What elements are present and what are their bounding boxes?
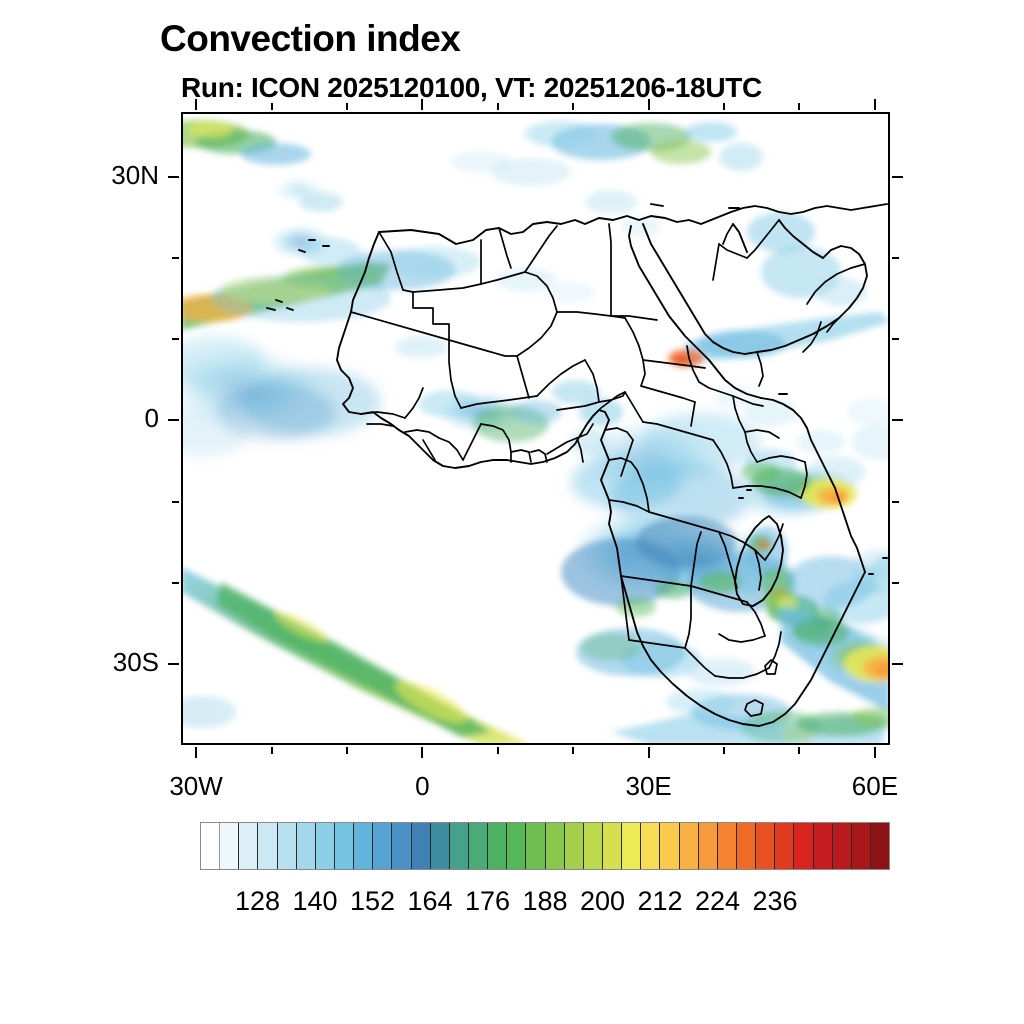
colorbar-segment[interactable] <box>220 823 239 869</box>
colorbar-segment[interactable] <box>718 823 737 869</box>
colorbar-tick-label-176: 176 <box>465 886 510 917</box>
y-major-tick <box>168 419 179 421</box>
colorbar-segment[interactable] <box>239 823 258 869</box>
colorbar-segment[interactable] <box>507 823 526 869</box>
x-minor-tick-top <box>798 103 800 110</box>
run-valid-time-subtitle: Run: ICON 2025120100, VT: 20251206-18UTC <box>181 72 762 104</box>
colorbar-segment[interactable] <box>392 823 411 869</box>
colorbar-segment[interactable] <box>699 823 718 869</box>
colorbar-segment[interactable] <box>660 823 679 869</box>
x-minor-tick-top <box>497 103 499 110</box>
x-major-tick <box>421 747 423 758</box>
colorbar-segment[interactable] <box>526 823 545 869</box>
x-major-tick <box>874 747 876 758</box>
colorbar-segment[interactable] <box>833 823 852 869</box>
y-minor-tick <box>172 582 179 584</box>
colorbar-segment[interactable] <box>335 823 354 869</box>
y-minor-tick-right <box>892 338 899 340</box>
colorbar-segment[interactable] <box>258 823 277 869</box>
x-major-tick-top <box>874 99 876 110</box>
colorbar[interactable] <box>200 822 890 870</box>
x-axis-label-2: 30E <box>625 771 671 802</box>
colorbar-segment[interactable] <box>584 823 603 869</box>
x-minor-tick-top <box>346 103 348 110</box>
y-minor-tick-right <box>892 257 899 259</box>
x-minor-tick <box>271 747 273 754</box>
colorbar-tick-label-140: 140 <box>292 886 337 917</box>
x-major-tick <box>648 747 650 758</box>
colorbar-segment[interactable] <box>603 823 622 869</box>
x-minor-tick <box>572 747 574 754</box>
page-title: Convection index <box>160 18 460 60</box>
x-minor-tick-top <box>572 103 574 110</box>
colorbar-tick-label-164: 164 <box>407 886 452 917</box>
colorbar-segment[interactable] <box>450 823 469 869</box>
colorbar-segment[interactable] <box>814 823 833 869</box>
colorbar-segment[interactable] <box>775 823 794 869</box>
colorbar-segment[interactable] <box>278 823 297 869</box>
colorbar-tick-label-128: 128 <box>235 886 280 917</box>
x-axis-label-1: 0 <box>415 771 429 802</box>
colorbar-segment[interactable] <box>412 823 431 869</box>
figure-canvas: Convection index Run: ICON 2025120100, V… <box>0 0 1024 1024</box>
x-major-tick-top <box>648 99 650 110</box>
x-minor-tick <box>798 747 800 754</box>
colorbar-segment[interactable] <box>373 823 392 869</box>
colorbar-tick-label-152: 152 <box>350 886 395 917</box>
x-major-tick-top <box>421 99 423 110</box>
colorbar-tick-label-236: 236 <box>752 886 797 917</box>
y-major-tick-right <box>892 176 903 178</box>
y-major-tick-right <box>892 419 903 421</box>
x-minor-tick <box>723 747 725 754</box>
colorbar-segment[interactable] <box>488 823 507 869</box>
colorbar-segment[interactable] <box>641 823 660 869</box>
x-axis-label-3: 60E <box>852 771 898 802</box>
colorbar-segment[interactable] <box>852 823 871 869</box>
y-axis-label-2: 30S <box>113 647 159 678</box>
x-minor-tick <box>346 747 348 754</box>
y-major-tick <box>168 176 179 178</box>
colorbar-tick-label-212: 212 <box>637 886 682 917</box>
colorbar-tick-label-188: 188 <box>522 886 567 917</box>
x-minor-tick-top <box>271 103 273 110</box>
colorbar-segment[interactable] <box>622 823 641 869</box>
colorbar-tick-label-200: 200 <box>580 886 625 917</box>
x-major-tick-top <box>195 99 197 110</box>
colorbar-segment[interactable] <box>737 823 756 869</box>
colorbar-segment[interactable] <box>316 823 335 869</box>
y-minor-tick <box>172 257 179 259</box>
colorbar-segment[interactable] <box>469 823 488 869</box>
y-minor-tick-right <box>892 501 899 503</box>
colorbar-segment[interactable] <box>756 823 775 869</box>
x-major-tick <box>195 747 197 758</box>
colorbar-segment[interactable] <box>297 823 316 869</box>
colorbar-segment[interactable] <box>431 823 450 869</box>
colorbar-segment[interactable] <box>354 823 373 869</box>
y-major-tick-right <box>892 663 903 665</box>
y-axis-label-1: 0 <box>145 403 159 434</box>
y-axis-label-0: 30N <box>111 160 159 191</box>
colorbar-segment[interactable] <box>201 823 220 869</box>
x-axis-label-0: 30W <box>169 771 222 802</box>
y-minor-tick <box>172 501 179 503</box>
y-minor-tick-right <box>892 582 899 584</box>
colorbar-segment[interactable] <box>871 823 889 869</box>
y-minor-tick <box>172 338 179 340</box>
y-major-tick <box>168 663 179 665</box>
colorbar-segment[interactable] <box>794 823 813 869</box>
colorbar-segment[interactable] <box>565 823 584 869</box>
x-minor-tick <box>497 747 499 754</box>
colorbar-segment[interactable] <box>680 823 699 869</box>
map-plot-area <box>181 112 890 745</box>
colorbar-segment[interactable] <box>546 823 565 869</box>
colorbar-tick-label-224: 224 <box>695 886 740 917</box>
x-minor-tick-top <box>723 103 725 110</box>
map-canvas <box>181 112 890 745</box>
